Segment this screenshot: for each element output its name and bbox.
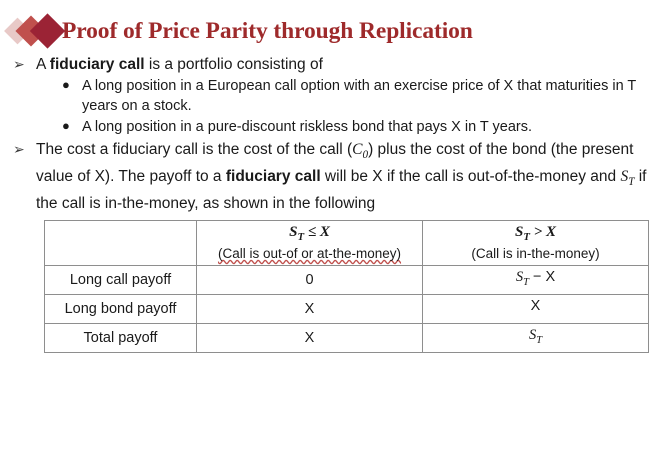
symbol-c0: C — [352, 141, 362, 158]
header-formula-2: ST > X — [515, 224, 556, 240]
cell-total-payoff-itm: ST — [423, 323, 649, 352]
title-row: Proof of Price Parity through Replicatio… — [0, 0, 662, 48]
cell-long-bond-payoff-otm: X — [197, 295, 423, 324]
table-header-cell-1: ST ≤ X (Call is out-of or at-the-money) — [197, 221, 423, 266]
bullet-text-post: is a portfolio consisting of — [145, 56, 323, 73]
bullet-list-level2: ● A long position in a European call opt… — [36, 76, 650, 137]
cell-long-call-payoff-otm: 0 — [197, 266, 423, 295]
cell-long-bond-payoff-itm: X — [423, 295, 649, 324]
table-corner-cell — [45, 221, 197, 266]
subbullet-long-call-position: ● A long position in a European call opt… — [58, 76, 650, 116]
table-header-cell-2: ST > X (Call is in-the-money) — [423, 221, 649, 266]
table-row: Total payoff X ST — [45, 323, 649, 352]
page-title: Proof of Price Parity through Replicatio… — [62, 18, 473, 45]
bullet-arrow-icon: ➢ — [13, 54, 25, 75]
bullet-arrow-icon: ➢ — [13, 139, 25, 160]
bullet-cost-of-fiduciary-call: ➢ The cost a fiduciary call is the cost … — [10, 139, 650, 214]
subbullet-text: A long position in a European call optio… — [82, 78, 636, 114]
bullet-list-level1: ➢ A fiduciary call is a portfolio consis… — [10, 54, 650, 214]
bullet-fiduciary-call-definition: ➢ A fiduciary call is a portfolio consis… — [10, 54, 650, 137]
slide-body: ➢ A fiduciary call is a portfolio consis… — [0, 48, 662, 353]
slide: Proof of Price Parity through Replicatio… — [0, 0, 662, 452]
row-label-long-call-payoff: Long call payoff — [45, 266, 197, 295]
payoff-table: ST ≤ X (Call is out-of or at-the-money) … — [44, 220, 649, 353]
row-label-long-bond-payoff: Long bond payoff — [45, 295, 197, 324]
header-subtext-2: (Call is in-the-money) — [427, 245, 644, 263]
bullet-text-bold2: fiduciary call — [226, 168, 321, 185]
cell-long-call-payoff-itm: ST − X — [423, 266, 649, 295]
table-row: Long call payoff 0 ST − X — [45, 266, 649, 295]
table-row: Long bond payoff X X — [45, 295, 649, 324]
payoff-table-wrapper: ST ≤ X (Call is out-of or at-the-money) … — [44, 220, 648, 353]
bullet-text-pre: A — [36, 56, 50, 73]
subbullet-long-bond-position: ● A long position in a pure-discount ris… — [58, 117, 650, 137]
bullet-dot-icon: ● — [62, 75, 70, 95]
subbullet-text: A long position in a pure-discount riskl… — [82, 119, 532, 135]
cell-total-payoff-otm: X — [197, 323, 423, 352]
table-header-row: ST ≤ X (Call is out-of or at-the-money) … — [45, 221, 649, 266]
diamond-decoration-icon — [6, 14, 62, 48]
header-formula-1: ST ≤ X — [289, 224, 330, 240]
bullet-text-part1: The cost a fiduciary call is the cost of… — [36, 141, 352, 158]
bullet-dot-icon: ● — [62, 116, 70, 136]
header-subtext-1: (Call is out-of or at-the-money) — [201, 245, 418, 263]
bullet-text-part3: will be X if the call is out-of-the-mone… — [321, 168, 621, 185]
row-label-total-payoff: Total payoff — [45, 323, 197, 352]
bullet-text-bold: fiduciary call — [50, 56, 145, 73]
